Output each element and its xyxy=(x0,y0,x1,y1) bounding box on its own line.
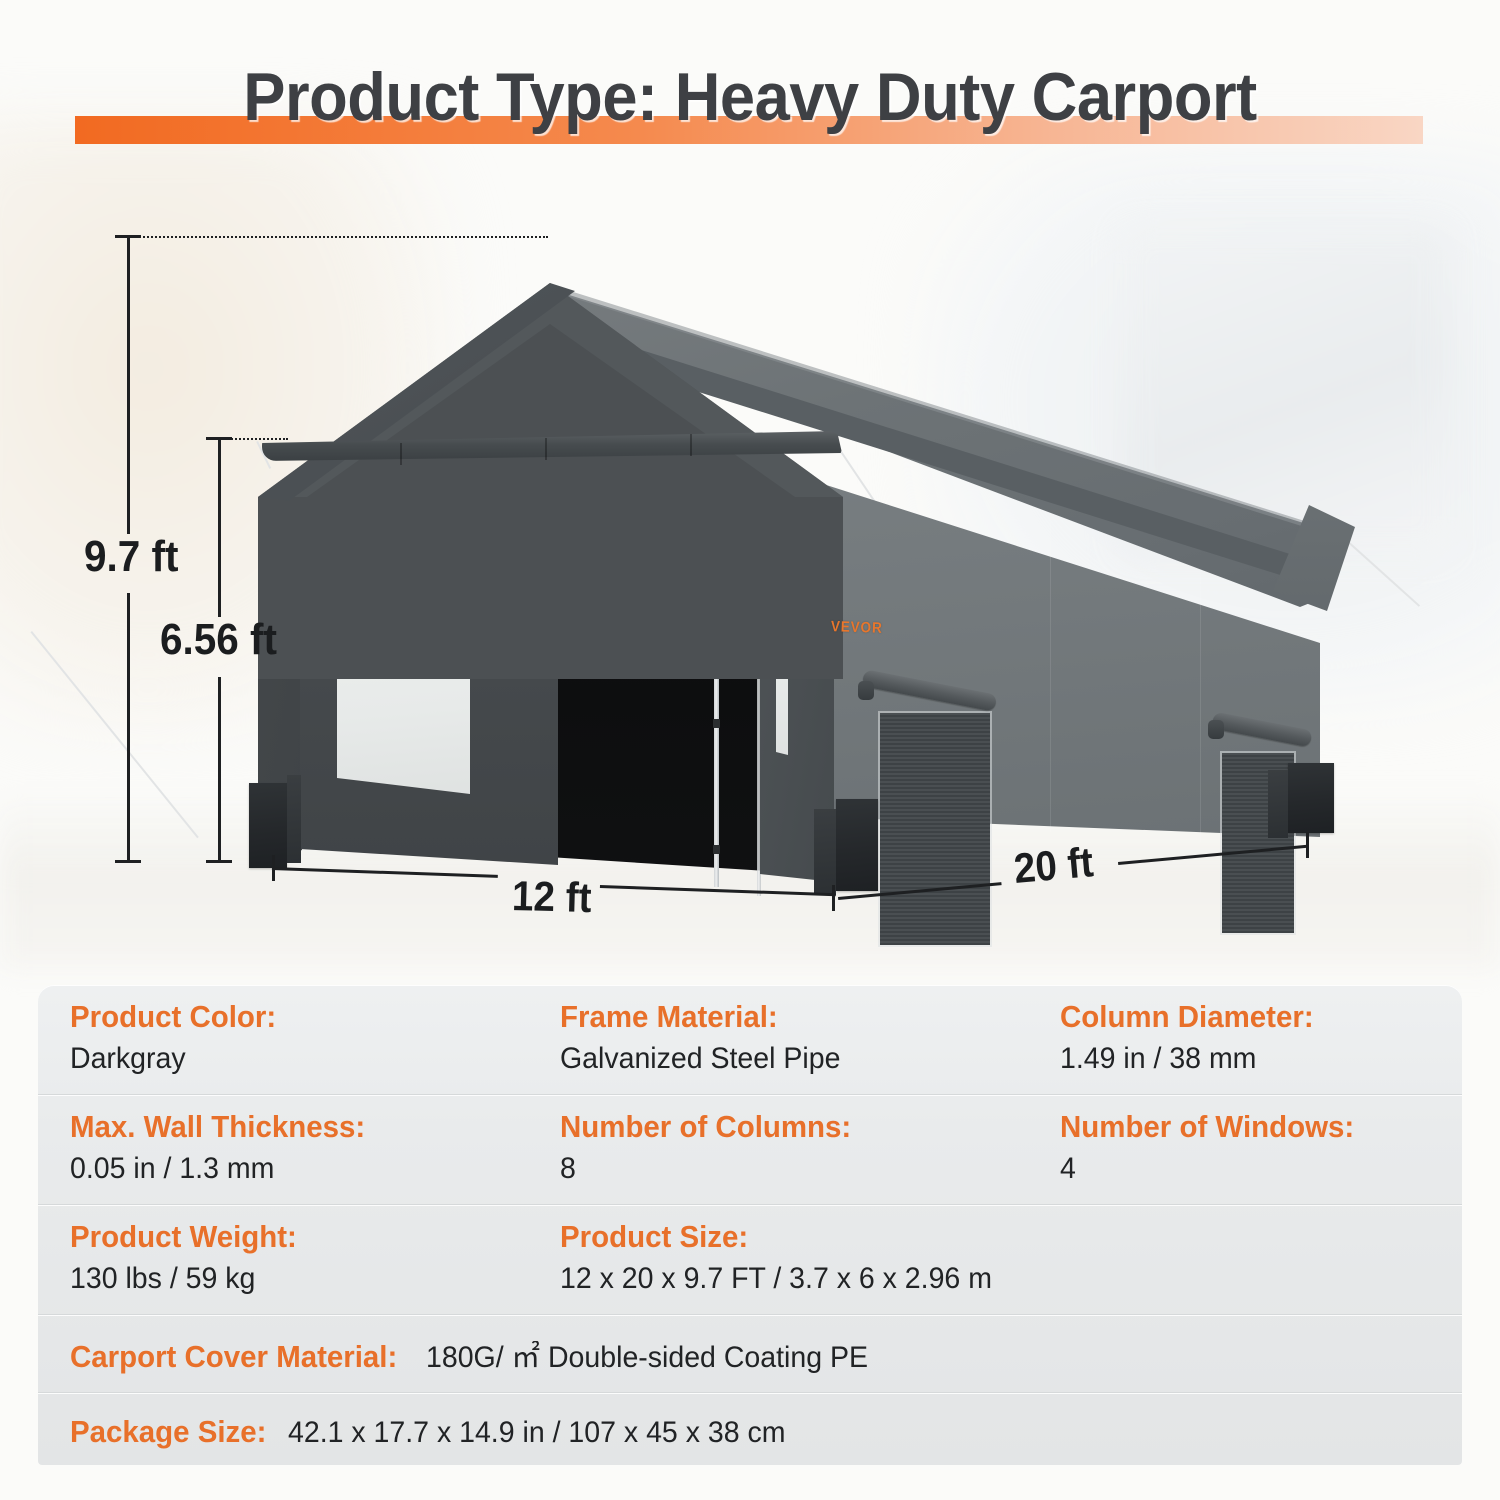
spec-cell-number-of-windows: Number of Windows: 4 xyxy=(1028,1095,1462,1204)
dim-peak-line-upper xyxy=(127,237,130,534)
dim-label-length: 20 ft xyxy=(1012,838,1095,893)
dim-eave-line-lower xyxy=(218,677,221,863)
spec-label: Number of Windows: xyxy=(1060,1109,1442,1145)
anchor-block-front-left xyxy=(249,783,287,868)
spec-value: 12 x 20 x 9.7 FT / 3.7 x 6 x 2.96 m xyxy=(560,1262,1417,1296)
spec-label: Max. Wall Thickness: xyxy=(70,1109,505,1145)
spec-row: Carport Cover Material: 180G/ ㎡ Double-s… xyxy=(38,1315,1462,1393)
spec-cell-frame-material: Frame Material: Galvanized Steel Pipe xyxy=(528,985,1028,1094)
spec-cell-number-of-columns: Number of Columns: 8 xyxy=(528,1095,1028,1204)
vevor-logo: VEVOR xyxy=(831,618,883,637)
spec-label: Package Size: xyxy=(70,1414,266,1450)
spec-row: Max. Wall Thickness: 0.05 in / 1.3 mm Nu… xyxy=(38,1095,1462,1205)
side-window-1 xyxy=(880,713,990,945)
spec-cell-cover-material: Carport Cover Material: 180G/ ㎡ Double-s… xyxy=(38,1332,891,1376)
interior-pole-2-joint-mid xyxy=(713,719,720,728)
side-wall-seam-1 xyxy=(1050,522,1051,832)
anchor-block-right-side xyxy=(1268,770,1288,838)
spec-row: Product Weight: 130 lbs / 59 kg Product … xyxy=(38,1205,1462,1315)
spec-cell-package-size: Package Size: 42.1 x 17.7 x 14.9 in / 10… xyxy=(38,1414,811,1450)
spec-cell-product-weight: Product Weight: 130 lbs / 59 kg xyxy=(38,1205,528,1314)
spec-value: 130 lbs / 59 kg xyxy=(70,1262,505,1296)
side-window-2-cap-left xyxy=(1208,720,1224,739)
interior-pole-2-joint-low xyxy=(713,845,720,854)
spec-label: Product Size: xyxy=(560,1219,1417,1255)
anchor-block-center xyxy=(836,799,878,891)
side-wall-seam-2 xyxy=(1200,570,1201,842)
dim-peak-bottom-cap xyxy=(115,860,141,863)
spec-label: Carport Cover Material: xyxy=(70,1339,397,1375)
spec-value: 1.49 in / 38 mm xyxy=(1060,1042,1442,1076)
spec-cell-column-diameter: Column Diameter: 1.49 in / 38 mm xyxy=(1028,985,1462,1094)
specification-table: Product Color: Darkgray Frame Material: … xyxy=(38,985,1462,1465)
dim-length-right-cap xyxy=(1306,832,1309,858)
spec-row: Product Color: Darkgray Frame Material: … xyxy=(38,985,1462,1095)
anchor-block-front-left-side xyxy=(287,775,301,863)
spec-value: Galvanized Steel Pipe xyxy=(560,1042,1005,1076)
spec-row: Package Size: 42.1 x 17.7 x 14.9 in / 10… xyxy=(38,1393,1462,1465)
spec-value: 180G/ ㎡ Double-sided Coating PE xyxy=(426,1332,868,1376)
spec-value: 4 xyxy=(1060,1152,1442,1186)
dim-leader-peak xyxy=(128,236,548,238)
spec-label: Column Diameter: xyxy=(1060,999,1442,1035)
spec-label: Number of Columns: xyxy=(560,1109,1005,1145)
spec-cell-product-color: Product Color: Darkgray xyxy=(38,985,528,1094)
spec-label: Product Color: xyxy=(70,999,505,1035)
dim-width-right-cap xyxy=(832,885,835,911)
page-title: Product Type: Heavy Duty Carport xyxy=(53,58,1448,136)
dim-label-width: 12 ft xyxy=(511,872,592,922)
spec-label: Frame Material: xyxy=(560,999,1005,1035)
eave-pipe-seam-1 xyxy=(400,443,402,465)
title-banner: Product Type: Heavy Duty Carport xyxy=(0,58,1500,178)
eave-pipe-seam-3 xyxy=(690,434,692,456)
dim-peak-line-lower xyxy=(127,593,130,863)
spec-value: 8 xyxy=(560,1152,1005,1186)
dim-label-eave-height: 6.56 ft xyxy=(160,615,277,665)
anchor-block-center-side xyxy=(814,809,836,895)
spec-value: Darkgray xyxy=(70,1042,505,1076)
anchor-block-right xyxy=(1288,763,1334,833)
spec-cell-max-wall-thickness: Max. Wall Thickness: 0.05 in / 1.3 mm xyxy=(38,1095,528,1204)
product-illustration: VEVOR 9.7 ft 6.56 ft 12 ft 20 ft xyxy=(0,195,1500,965)
spec-value: 0.05 in / 1.3 mm xyxy=(70,1152,505,1186)
eave-pipe-seam-2 xyxy=(545,438,547,460)
dim-eave-line-upper xyxy=(218,439,221,617)
side-window-1-cap-left xyxy=(858,681,874,700)
spec-label: Product Weight: xyxy=(70,1219,505,1255)
dim-eave-bottom-cap xyxy=(206,860,232,863)
spec-value: 42.1 x 17.7 x 14.9 in / 107 x 45 x 38 cm xyxy=(288,1416,785,1450)
dim-label-peak-height: 9.7 ft xyxy=(84,532,178,582)
spec-cell-product-size: Product Size: 12 x 20 x 9.7 FT / 3.7 x 6… xyxy=(528,1205,1462,1314)
